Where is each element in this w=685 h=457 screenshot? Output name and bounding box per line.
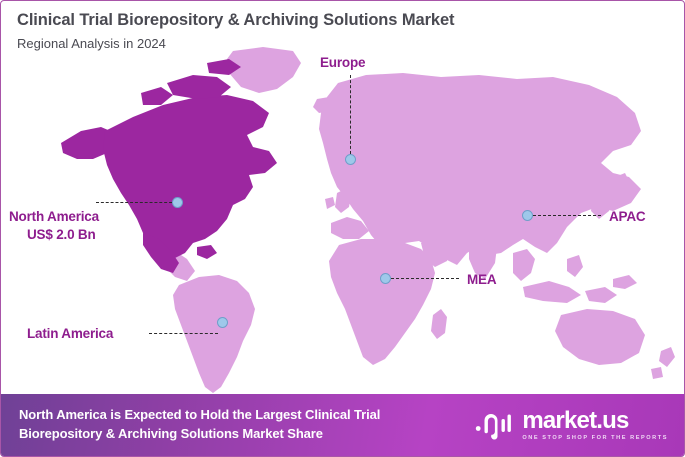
region-label-europe-line1: Europe — [320, 55, 365, 70]
region-label-apac[interactable]: APAC — [609, 208, 645, 226]
banner-headline-line1: North America is Expected to Hold the La… — [19, 406, 380, 425]
leader-line-apac — [533, 215, 601, 216]
marker-dot-north-america[interactable] — [172, 197, 183, 208]
leader-line-europe — [350, 75, 351, 154]
leader-line-mea — [391, 278, 459, 279]
region-label-mea[interactable]: MEA — [467, 271, 496, 289]
leader-line-north-america — [96, 202, 172, 203]
banner-headline-line2: Biorepository & Archiving Solutions Mark… — [19, 425, 380, 444]
region-label-latin-america-line1: Latin America — [27, 326, 113, 341]
market-us-logo-icon — [475, 410, 515, 440]
marker-dot-apac[interactable] — [522, 210, 533, 221]
region-label-north-america[interactable]: North America US$ 2.0 Bn — [9, 208, 99, 244]
banner-headline: North America is Expected to Hold the La… — [19, 406, 380, 444]
logo-name: market.us — [522, 409, 668, 433]
market-us-logo[interactable]: market.us ONE STOP SHOP FOR THE REPORTS — [475, 409, 672, 442]
marker-dot-mea[interactable] — [380, 273, 391, 284]
market-us-logo-text: market.us ONE STOP SHOP FOR THE REPORTS — [522, 409, 668, 442]
region-label-north-america-line1: North America — [9, 209, 99, 224]
page-title: Clinical Trial Biorepository & Archiving… — [17, 10, 685, 31]
logo-tagline: ONE STOP SHOP FOR THE REPORTS — [522, 436, 668, 442]
infographic-card: Clinical Trial Biorepository & Archiving… — [0, 0, 685, 457]
region-label-europe[interactable]: Europe — [320, 54, 365, 72]
region-label-mea-line1: MEA — [467, 272, 496, 287]
region-label-latin-america[interactable]: Latin America — [27, 325, 113, 343]
region-label-north-america-line2: US$ 2.0 Bn — [27, 226, 99, 244]
marker-dot-europe[interactable] — [345, 154, 356, 165]
page-subtitle: Regional Analysis in 2024 — [17, 36, 685, 52]
leader-line-latin-america — [149, 333, 218, 334]
header: Clinical Trial Biorepository & Archiving… — [1, 1, 685, 51]
bottom-banner: North America is Expected to Hold the La… — [1, 394, 685, 456]
marker-dot-latin-america[interactable] — [217, 317, 228, 328]
region-label-apac-line1: APAC — [609, 209, 645, 224]
